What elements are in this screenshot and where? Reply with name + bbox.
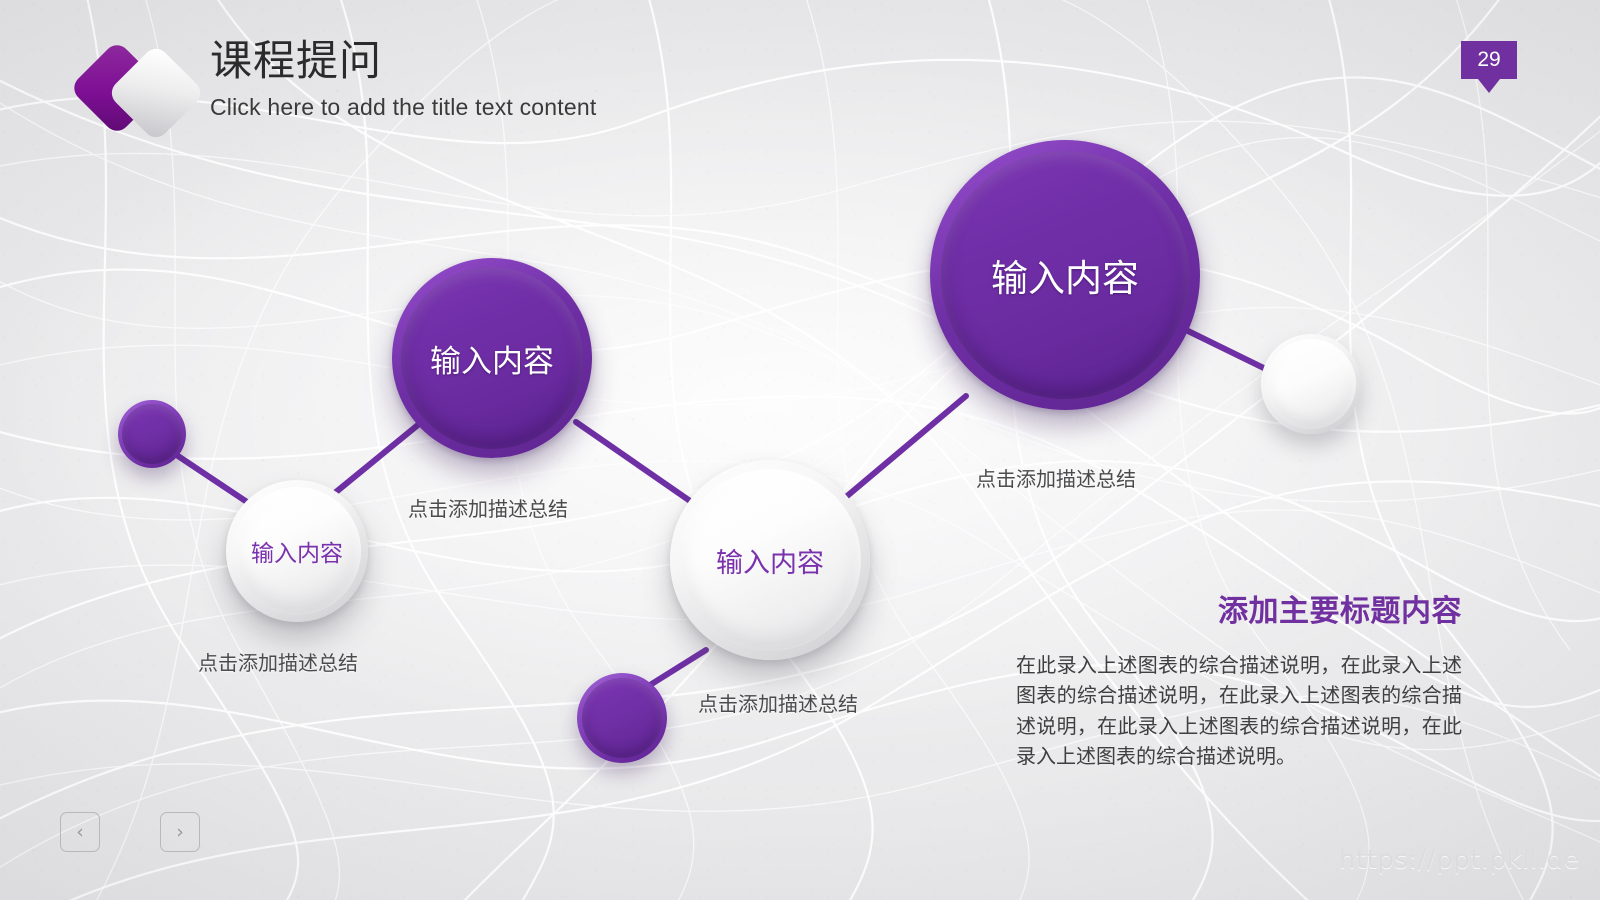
connector-left-to-medium	[336, 420, 424, 492]
nav-prev-button[interactable]: ‹	[60, 812, 100, 852]
chevron-right-icon: ›	[176, 821, 184, 843]
node-white-left[interactable]: 输入内容	[226, 480, 368, 622]
node-label: 输入内容	[430, 336, 554, 381]
caption-white-left: 点击添加描述总结	[198, 647, 358, 676]
dot-face	[582, 678, 662, 758]
node-label: 输入内容	[251, 534, 343, 568]
node-purple-large[interactable]: 输入内容	[930, 140, 1200, 410]
chevron-left-icon: ‹	[76, 821, 84, 843]
dot-purple-bottom[interactable]	[577, 673, 667, 763]
slide-canvas: 课程提问 Click here to add the title text co…	[0, 0, 1600, 900]
node-purple-medium[interactable]: 输入内容	[392, 258, 592, 458]
watermark: https://ppt.pkll.de	[1339, 845, 1580, 875]
panel-body-text: 在此录入上述图表的综合描述说明，在此录入上述图表的综合描述说明，在此录入上述图表…	[1016, 650, 1462, 772]
dot-face	[122, 404, 182, 464]
node-face: 输入内容	[679, 469, 861, 651]
connector-center-to-large	[840, 396, 966, 502]
node-label: 输入内容	[991, 248, 1139, 302]
nav-next-button[interactable]: ›	[160, 812, 200, 852]
dot-face	[1266, 339, 1356, 429]
caption-purple-large: 点击添加描述总结	[976, 463, 1136, 492]
panel-heading: 添加主要标题内容	[1016, 586, 1462, 630]
connector-medium-to-center	[576, 422, 706, 512]
dot-purple-left[interactable]	[118, 400, 186, 468]
node-face: 输入内容	[941, 151, 1189, 399]
node-white-center[interactable]: 输入内容	[670, 460, 870, 660]
node-face: 输入内容	[233, 487, 361, 615]
node-label: 输入内容	[716, 541, 824, 580]
dot-white-right[interactable]	[1261, 334, 1361, 434]
caption-white-center: 点击添加描述总结	[698, 688, 858, 717]
description-panel: 添加主要标题内容 在此录入上述图表的综合描述说明，在此录入上述图表的综合描述说明…	[1016, 586, 1462, 772]
node-face: 输入内容	[401, 267, 583, 449]
caption-purple-medium: 点击添加描述总结	[408, 493, 568, 522]
